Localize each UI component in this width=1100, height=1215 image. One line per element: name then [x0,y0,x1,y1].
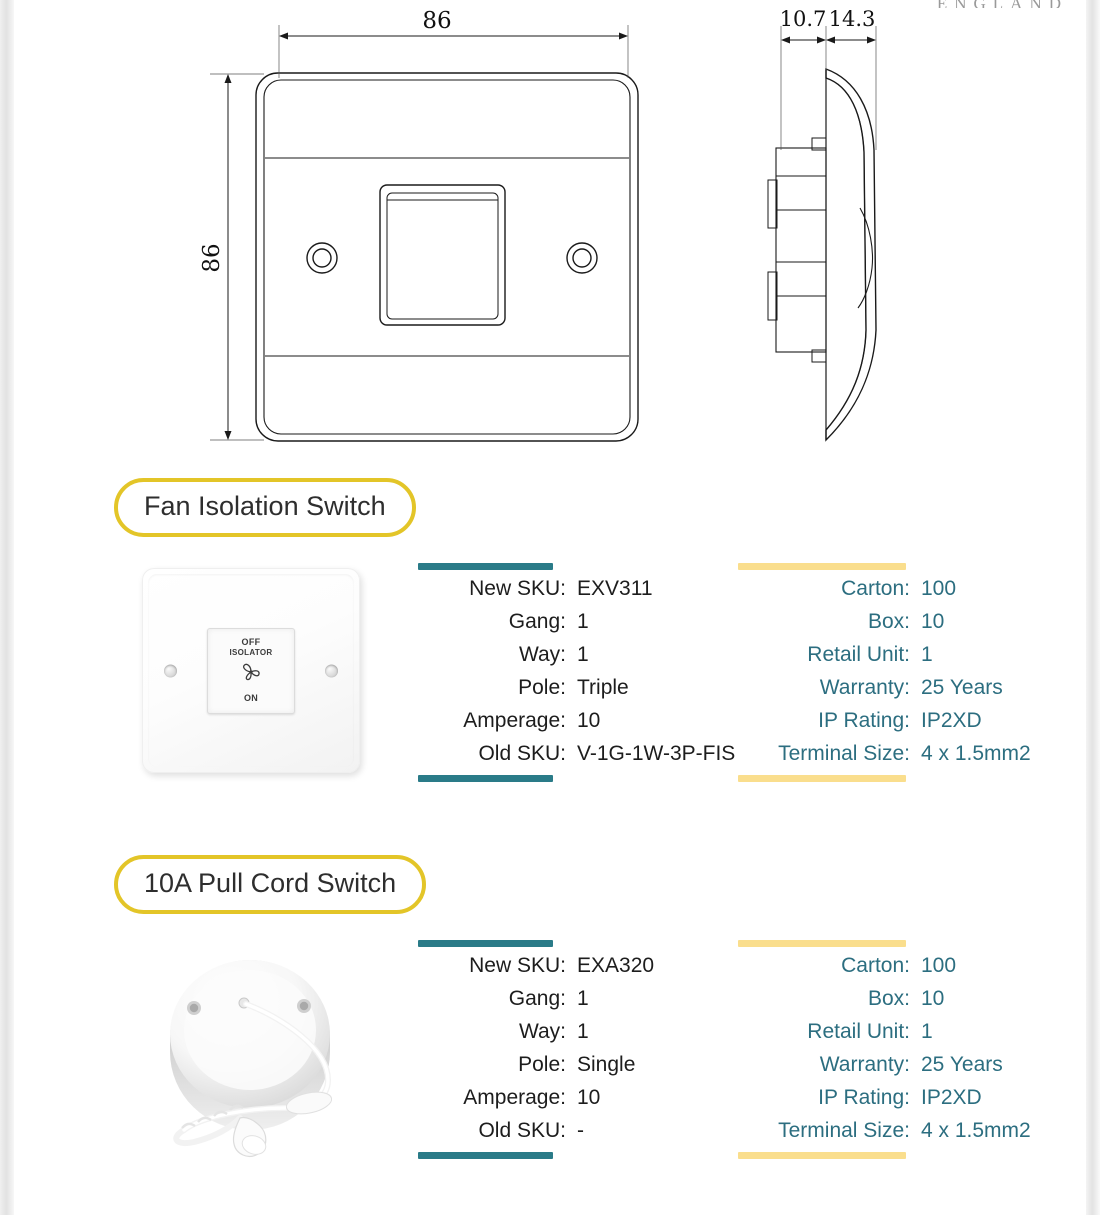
spec-label: IP Rating: [738,710,910,731]
rocker-isolator-label: ISOLATOR [230,648,273,658]
rule-top-yellow [738,940,906,947]
rule-top-teal [418,563,553,570]
spec-value: EXV311 [566,578,738,599]
spec-row: Warranty:25 Years [738,677,1058,698]
spec-row: Old SKU:- [418,1120,738,1141]
spec-table-primary: New SKU:EXV311 Gang:1 Way:1 Pole:Triple … [418,563,738,782]
spec-row: Box:10 [738,611,1058,632]
document-page: ENGLAND [14,0,1086,1215]
screw-right-icon [325,664,338,677]
spec-row: Gang:1 [418,988,738,1009]
rule-bottom-teal [418,775,553,782]
spec-row: Way:1 [418,1021,738,1042]
spec-label: IP Rating: [738,1087,910,1108]
spec-value: 1 [910,1021,1058,1042]
spec-label: Retail Unit: [738,1021,910,1042]
spec-row: IP Rating:IP2XD [738,710,1058,731]
rocker-off-label: OFF [242,637,261,648]
spec-row: Box:10 [738,988,1058,1009]
drawing-svg: 86 86 10.7 14.3 [14,0,1086,470]
dim-front-width-label: 86 [422,8,451,34]
rule-top-teal [418,940,553,947]
spec-label: New SKU: [418,578,566,599]
spec-label: Way: [418,644,566,665]
dim-side-plate-depth-label: 10.7 [780,7,827,31]
spec-value: 25 Years [910,677,1058,698]
spec-label: New SKU: [418,955,566,976]
spec-rows-primary: New SKU:EXA320 Gang:1 Way:1 Pole:Single … [418,947,738,1145]
spec-value: 1 [566,988,738,1009]
spec-row: Pole:Single [418,1054,738,1075]
spec-table-primary: New SKU:EXA320 Gang:1 Way:1 Pole:Single … [418,940,738,1159]
spec-table-packaging: Carton:100 Box:10 Retail Unit:1 Warranty… [738,940,1058,1159]
scrollbar-vertical[interactable] [1086,0,1100,1215]
spec-value: 1 [566,1021,738,1042]
spec-value: 10 [566,710,738,731]
rule-top-yellow [738,563,906,570]
spec-value: - [566,1120,738,1141]
spec-value: 1 [566,611,738,632]
spec-value: IP2XD [910,1087,1058,1108]
spec-value: Single [566,1054,738,1075]
spec-value: 10 [910,988,1058,1009]
rocker-on-label: ON [244,693,258,704]
spec-row: Retail Unit:1 [738,1021,1058,1042]
spec-value: 100 [910,578,1058,599]
spec-label: Carton: [738,955,910,976]
spec-row: Terminal Size:4 x 1.5mm2 [738,1120,1058,1141]
spec-rows-packaging: Carton:100 Box:10 Retail Unit:1 Warranty… [738,570,1058,768]
spec-table-packaging: Carton:100 Box:10 Retail Unit:1 Warranty… [738,563,1058,782]
spec-row: New SKU:EXV311 [418,578,738,599]
spec-row: Retail Unit:1 [738,644,1058,665]
cut-off-england-text: ENGLAND [937,0,1068,8]
spec-value: 100 [910,955,1058,976]
spec-row: Old SKU:V-1G-1W-3P-FIS [418,743,738,764]
spec-row: Way:1 [418,644,738,665]
spec-label: Box: [738,611,910,632]
spec-label: Amperage: [418,1087,566,1108]
spec-label: Gang: [418,988,566,1009]
fan-blade-icon [238,661,264,688]
product-photo-pull-cord-switch [132,940,372,1170]
pull-cord-icon [132,940,372,1170]
spec-label: Terminal Size: [738,743,910,764]
spec-label: Pole: [418,1054,566,1075]
spec-label: Pole: [418,677,566,698]
spec-label: Way: [418,1021,566,1042]
screw-left-icon [164,664,177,677]
spec-row: IP Rating:IP2XD [738,1087,1058,1108]
product-block-pull-cord-switch: 10A Pull Cord Switch [14,855,1086,1190]
spec-value: 25 Years [910,1054,1058,1075]
spec-value: 4 x 1.5mm2 [910,743,1058,764]
page-left-edge [0,0,14,1215]
spec-label: Old SKU: [418,1120,566,1141]
spec-value: 4 x 1.5mm2 [910,1120,1058,1141]
rule-bottom-yellow [738,775,906,782]
spec-label: Warranty: [738,677,910,698]
spec-label: Carton: [738,578,910,599]
dim-side-total-depth-label: 14.3 [829,7,876,31]
spec-rows-primary: New SKU:EXV311 Gang:1 Way:1 Pole:Triple … [418,570,738,768]
spec-row: Amperage:10 [418,710,738,731]
technical-drawing: ENGLAND [14,0,1086,470]
spec-value: EXA320 [566,955,738,976]
spec-label: Amperage: [418,710,566,731]
switch-rocker[interactable]: OFF ISOLATOR [207,628,295,714]
spec-value: 1 [566,644,738,665]
product-title-pill: 10A Pull Cord Switch [114,855,426,914]
spec-label: Box: [738,988,910,1009]
spec-value: 10 [566,1087,738,1108]
spec-row: Warranty:25 Years [738,1054,1058,1075]
spec-value: 10 [910,611,1058,632]
product-title-pill: Fan Isolation Switch [114,478,416,537]
spec-label: Retail Unit: [738,644,910,665]
switch-faceplate: OFF ISOLATOR [142,568,360,773]
spec-row: Gang:1 [418,611,738,632]
product-block-fan-isolation-switch: Fan Isolation Switch OFF ISOLATOR [14,478,1086,813]
rule-bottom-teal [418,1152,553,1159]
spec-row: Carton:100 [738,955,1058,976]
spec-value: V-1G-1W-3P-FIS [566,743,738,764]
spec-row: Terminal Size:4 x 1.5mm2 [738,743,1058,764]
spec-label: Gang: [418,611,566,632]
spec-value: IP2XD [910,710,1058,731]
spec-row: Pole:Triple [418,677,738,698]
spec-row: New SKU:EXA320 [418,955,738,976]
rule-bottom-yellow [738,1152,906,1159]
spec-value: Triple [566,677,738,698]
spec-row: Carton:100 [738,578,1058,599]
spec-label: Warranty: [738,1054,910,1075]
spec-label: Old SKU: [418,743,566,764]
spec-label: Terminal Size: [738,1120,910,1141]
spec-row: Amperage:10 [418,1087,738,1108]
dim-front-height-label: 86 [199,243,225,272]
product-photo-fan-isolation-switch: OFF ISOLATOR [132,563,372,793]
spec-value: 1 [910,644,1058,665]
spec-rows-packaging: Carton:100 Box:10 Retail Unit:1 Warranty… [738,947,1058,1145]
